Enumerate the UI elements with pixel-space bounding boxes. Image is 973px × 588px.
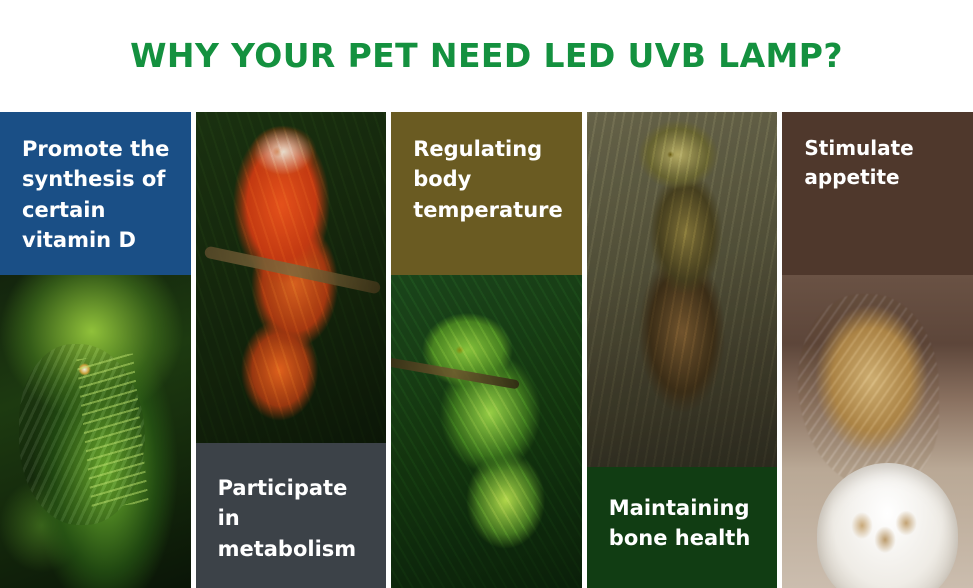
water-dragon-illustration bbox=[587, 112, 778, 467]
benefit-caption-1: Promote the synthesis of certain vitamin… bbox=[0, 112, 191, 275]
benefit-caption-2: Participate in metabolism bbox=[196, 443, 387, 588]
benefit-column-1: Promote the synthesis of certain vitamin… bbox=[0, 112, 191, 588]
bearded-dragon-eating-photo bbox=[782, 275, 973, 588]
benefit-caption-3: Regulating body temperature bbox=[391, 112, 582, 275]
benefit-column-4: Maintaining bone health bbox=[587, 112, 778, 588]
benefit-column-3: Regulating body temperature bbox=[391, 112, 582, 588]
benefit-columns: Promote the synthesis of certain vitamin… bbox=[0, 112, 973, 588]
green-iguana-photo bbox=[0, 275, 191, 588]
red-panther-chameleon-photo bbox=[196, 112, 387, 443]
water-dragon-lizard-photo bbox=[587, 112, 778, 467]
benefit-caption-4: Maintaining bone health bbox=[587, 467, 778, 588]
benefit-column-2: Participate in metabolism bbox=[196, 112, 387, 588]
green-chameleon-photo bbox=[391, 275, 582, 588]
page-title: WHY YOUR PET NEED LED UVB LAMP? bbox=[0, 36, 973, 75]
benefit-column-5: Stimulate appetite bbox=[782, 112, 973, 588]
benefit-caption-5: Stimulate appetite bbox=[782, 112, 973, 275]
poster-root: WHY YOUR PET NEED LED UVB LAMP? Promote … bbox=[0, 0, 973, 588]
green-chameleon-illustration bbox=[391, 275, 582, 588]
